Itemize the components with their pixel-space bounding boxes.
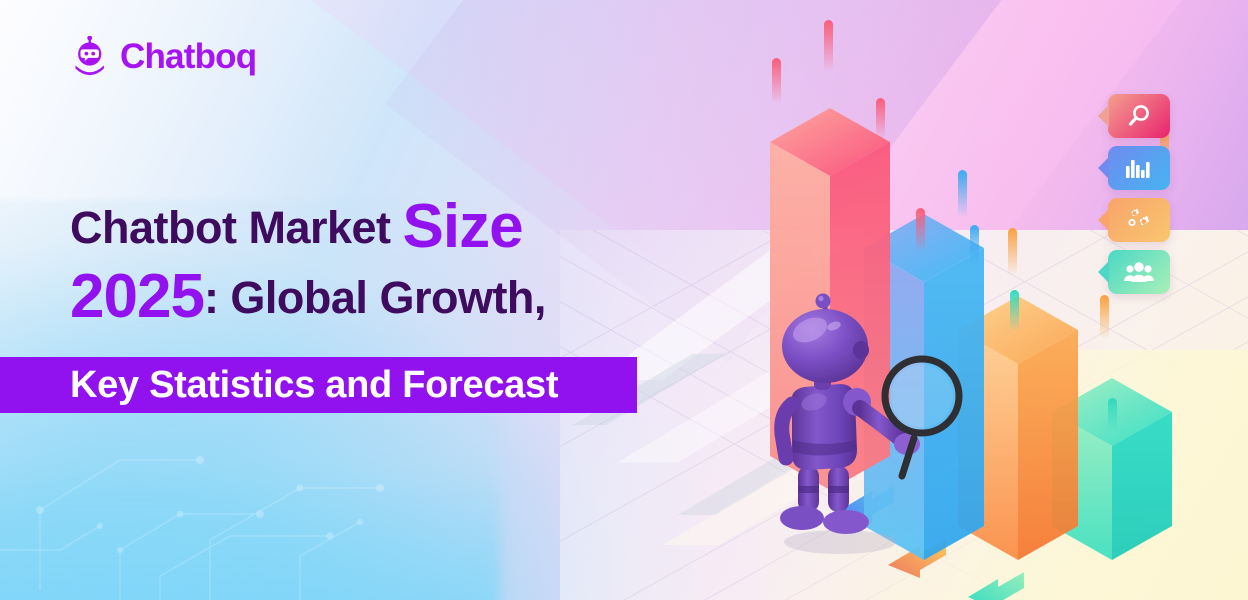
headline-accent-year: 2025 <box>70 262 204 331</box>
robot-left-arm <box>782 404 792 458</box>
headline-line-3: Key Statistics and Forecast <box>70 364 558 407</box>
brand-logo[interactable]: Chatboq <box>70 36 256 78</box>
headline-accent-size: Size <box>403 192 523 261</box>
circuit-pattern <box>0 300 520 600</box>
audience-badge[interactable] <box>1108 250 1170 294</box>
magnifier-icon <box>1126 103 1152 129</box>
headline-line-1: Chatbot Market Size <box>70 196 690 258</box>
headline-line-2: 2025: Global Growth, <box>70 266 690 328</box>
hero-banner: Chatboq Chatbot Market Size 2025: Global… <box>0 0 1248 600</box>
analytics-badge[interactable] <box>1108 146 1170 190</box>
gears-icon <box>1125 207 1153 233</box>
robot-ear <box>853 341 869 359</box>
headline-highlight-bar: Key Statistics and Forecast <box>0 357 637 413</box>
headline-line-1-prefix: Chatbot Market <box>70 202 391 253</box>
magnifying-glass-prop <box>885 359 959 476</box>
robot-legs <box>780 466 869 534</box>
bar-chart-icon <box>1124 156 1154 180</box>
headline-line-2-rest: : Global Growth, <box>204 272 546 323</box>
brand-name: Chatboq <box>120 37 256 77</box>
headline-block: Chatbot Market Size 2025: Global Growth, <box>70 196 690 328</box>
settings-badge[interactable] <box>1108 198 1170 242</box>
robot-head-icon <box>70 36 110 78</box>
search-badge[interactable] <box>1108 94 1170 138</box>
people-group-icon <box>1123 261 1155 283</box>
robot-character <box>762 290 972 560</box>
robot-head <box>782 309 869 383</box>
feature-badge-list <box>1108 94 1170 294</box>
